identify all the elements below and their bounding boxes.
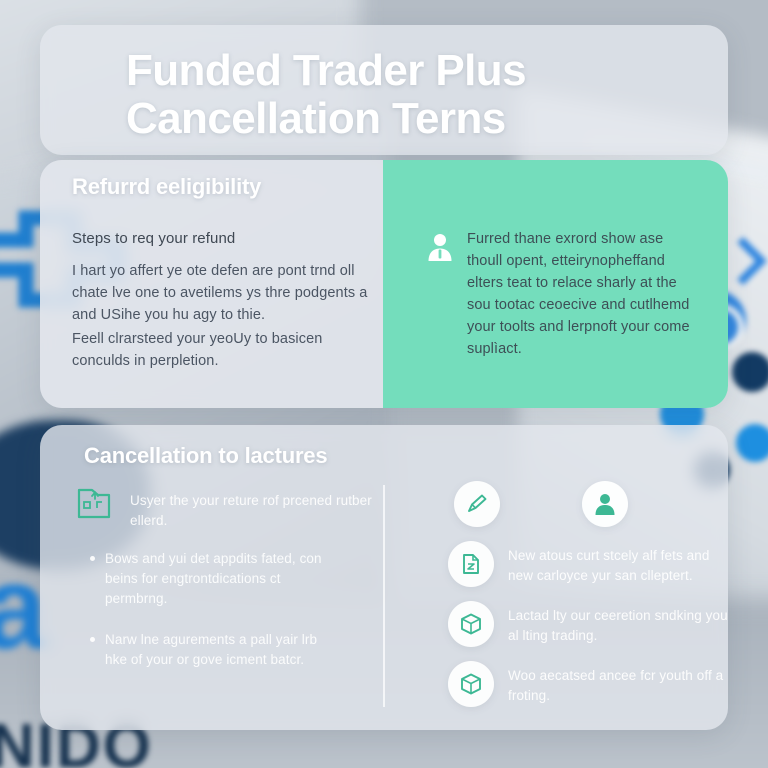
page-title-line1: Funded Trader Plus [126, 46, 526, 95]
feature-item: Lactad lty our ceeretion sndking you al … [448, 601, 748, 647]
lead-text: Usyer the your reture rof prcened rutber… [130, 487, 376, 531]
box-icon [459, 672, 483, 696]
person-icon [594, 492, 616, 516]
refund-left-panel: Refurrd eeligibility Steps to req your r… [40, 160, 383, 408]
bullet-item: Bows and yui det appdits fated, con bein… [76, 549, 376, 610]
bullet-item: Narw lne agurements a pall yair lrb hke … [76, 630, 376, 671]
bullet-text: Narw lne agurements a pall yair lrb hke … [105, 630, 333, 671]
feature-text: Woo aecatsed ancee fcr youth off a froti… [508, 661, 730, 707]
refund-subheading: Steps to req your refund [72, 228, 364, 251]
document-icon [460, 552, 482, 576]
pen-icon [465, 492, 489, 516]
box-icon-badge[interactable] [448, 601, 494, 647]
person-icon [427, 232, 453, 262]
refund-right-text: Furred thane exrord show ase thoull open… [467, 228, 699, 360]
refund-paragraph-1: I hart yo affert ye ote defen are pont t… [72, 260, 372, 326]
header-card: Funded Trader Plus Cancellation Terns [40, 25, 728, 155]
refund-heading: Refurrd eeligibility [72, 174, 365, 200]
pen-icon-badge[interactable] [454, 481, 500, 527]
feature-text: Lactad lty our ceeretion sndking you al … [508, 601, 730, 647]
feature-circle-row [448, 481, 748, 527]
bullet-dot-icon [90, 637, 95, 642]
cancellation-card: Cancellation to lactures Usyer the your … [40, 425, 728, 730]
cancellation-left-column: Usyer the your reture rof prcened rutber… [76, 487, 376, 690]
vertical-divider [383, 485, 385, 707]
person-icon-badge[interactable] [582, 481, 628, 527]
envelope-card-icon [76, 487, 116, 521]
refund-paragraph-2: Feell clrarsteed your yeoUy to basicen c… [72, 328, 364, 372]
bullet-text: Bows and yui det appdits fated, con bein… [105, 549, 333, 610]
refund-right-panel: Furred thane exrord show ase thoull open… [383, 160, 728, 408]
page-title-line2: Cancellation Terns [126, 95, 704, 143]
box-icon [459, 612, 483, 636]
page-title: Funded Trader Plus Cancellation Terns [126, 47, 704, 142]
refund-eligibility-card: Refurrd eeligibility Steps to req your r… [40, 160, 728, 408]
feature-item: New atous curt stcely alf fets and new c… [448, 541, 748, 587]
content-stage: Funded Trader Plus Cancellation Terns Re… [0, 0, 768, 768]
document-icon-badge[interactable] [448, 541, 494, 587]
bullet-dot-icon [90, 556, 95, 561]
lead-row: Usyer the your reture rof prcened rutber… [76, 487, 376, 531]
feature-text: New atous curt stcely alf fets and new c… [508, 541, 730, 587]
cancellation-heading: Cancellation to lactures [84, 443, 704, 469]
feature-item: Woo aecatsed ancee fcr youth off a froti… [448, 661, 748, 707]
box-icon-badge[interactable] [448, 661, 494, 707]
cancellation-right-column: New atous curt stcely alf fets and new c… [448, 481, 748, 721]
